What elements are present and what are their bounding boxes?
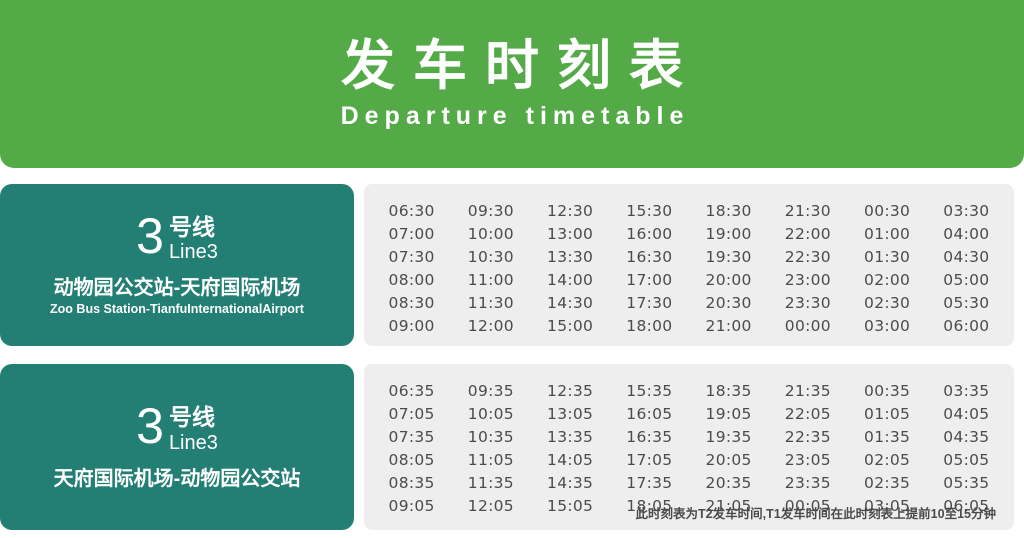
departure-time-cell: 09:05 (372, 495, 451, 518)
departure-time-cell: 14:05 (531, 449, 610, 472)
departure-time-cell: 08:05 (372, 449, 451, 472)
departure-time-cell: 20:05 (689, 449, 768, 472)
departure-time-cell: 16:30 (610, 246, 689, 269)
departure-time-cell: 23:05 (768, 449, 847, 472)
departure-time-cell: 15:30 (610, 200, 689, 223)
departure-time-cell: 13:00 (531, 223, 610, 246)
route-row: 3 号线 Line3 动物园公交站-天府国际机场 Zoo Bus Station… (0, 184, 1024, 346)
departure-time-cell: 16:35 (610, 426, 689, 449)
timetable-panel-1: 06:3509:3512:3515:3518:3521:3500:3503:35… (364, 364, 1014, 530)
departure-time-cell: 00:35 (848, 380, 927, 403)
line-badge: 3 号线 Line3 (136, 213, 218, 264)
departure-time-cell: 21:00 (689, 315, 768, 338)
line-label-cn: 号线 (169, 215, 215, 239)
header-banner: 发车时刻表 Departure timetable (0, 0, 1024, 168)
departure-time-cell: 16:05 (610, 403, 689, 426)
departure-time-cell: 20:30 (689, 292, 768, 315)
departure-time-cell: 00:30 (848, 200, 927, 223)
departure-time-cell: 06:35 (372, 380, 451, 403)
departure-time-cell: 10:30 (451, 246, 530, 269)
departure-time-cell: 03:30 (927, 200, 1006, 223)
departure-time-cell: 12:35 (531, 380, 610, 403)
departure-time-cell: 23:00 (768, 269, 847, 292)
departure-time-cell: 17:35 (610, 472, 689, 495)
departure-time-cell: 03:35 (927, 380, 1006, 403)
departure-time-cell: 17:30 (610, 292, 689, 315)
departure-time-cell: 11:30 (451, 292, 530, 315)
line-number: 3 (136, 403, 164, 450)
route-card-0[interactable]: 3 号线 Line3 动物园公交站-天府国际机场 Zoo Bus Station… (0, 184, 354, 346)
departure-time-cell: 17:05 (610, 449, 689, 472)
departure-time-cell: 08:00 (372, 269, 451, 292)
departure-time-cell: 00:00 (768, 315, 847, 338)
departure-time-cell: 19:30 (689, 246, 768, 269)
departure-time-cell: 06:00 (927, 315, 1006, 338)
departure-time-cell: 06:30 (372, 200, 451, 223)
departure-time-cell: 14:00 (531, 269, 610, 292)
timetable-grid: 06:3509:3512:3515:3518:3521:3500:3503:35… (372, 380, 1006, 518)
departure-time-cell: 12:30 (531, 200, 610, 223)
departure-time-cell: 20:00 (689, 269, 768, 292)
departure-time-cell: 13:05 (531, 403, 610, 426)
departure-time-cell: 01:00 (848, 223, 927, 246)
departure-time-cell: 09:30 (451, 200, 530, 223)
departure-time-cell: 20:35 (689, 472, 768, 495)
departure-time-cell: 09:35 (451, 380, 530, 403)
departure-time-cell: 14:35 (531, 472, 610, 495)
departure-time-cell: 19:00 (689, 223, 768, 246)
departure-time-cell: 23:30 (768, 292, 847, 315)
departure-time-cell: 11:35 (451, 472, 530, 495)
line-label-en: Line3 (169, 432, 218, 455)
departure-time-cell: 08:30 (372, 292, 451, 315)
departure-time-cell: 11:05 (451, 449, 530, 472)
route-row: 3 号线 Line3 天府国际机场-动物园公交站 06:3509:3512:35… (0, 364, 1024, 530)
page-title-cn: 发车时刻表 (323, 36, 701, 96)
timetable-grid: 06:3009:3012:3015:3018:3021:3000:3003:30… (372, 200, 1006, 338)
departure-time-cell: 12:05 (451, 495, 530, 518)
departure-time-cell: 07:30 (372, 246, 451, 269)
departure-time-cell: 23:35 (768, 472, 847, 495)
timetable-panel-0: 06:3009:3012:3015:3018:3021:3000:3003:30… (364, 184, 1014, 346)
departure-time-cell: 11:00 (451, 269, 530, 292)
route-name-cn: 动物园公交站-天府国际机场 (54, 276, 301, 300)
departure-time-cell: 10:00 (451, 223, 530, 246)
departure-time-cell: 15:05 (531, 495, 610, 518)
departure-time-cell: 13:30 (531, 246, 610, 269)
departure-time-cell: 04:05 (927, 403, 1006, 426)
departure-time-cell: 08:35 (372, 472, 451, 495)
departure-time-cell: 13:35 (531, 426, 610, 449)
departure-time-cell: 05:30 (927, 292, 1006, 315)
departure-time-cell: 02:35 (848, 472, 927, 495)
line-badge: 3 号线 Line3 (136, 403, 218, 454)
departure-time-cell: 07:05 (372, 403, 451, 426)
departure-time-cell: 02:05 (848, 449, 927, 472)
page-title-en: Departure timetable (335, 101, 690, 132)
departure-time-cell: 17:00 (610, 269, 689, 292)
departure-time-cell: 07:00 (372, 223, 451, 246)
departure-time-cell: 04:35 (927, 426, 1006, 449)
departure-time-cell: 15:00 (531, 315, 610, 338)
line-number: 3 (136, 213, 164, 260)
timetable-footnote: 此时刻表为T2发车时间,T1发车时间在此时刻表上提前10至15分钟 (636, 507, 996, 522)
departure-time-cell: 02:30 (848, 292, 927, 315)
departure-time-cell: 09:00 (372, 315, 451, 338)
departure-time-cell: 05:05 (927, 449, 1006, 472)
departure-time-cell: 14:30 (531, 292, 610, 315)
departure-time-cell: 01:35 (848, 426, 927, 449)
departure-time-cell: 03:00 (848, 315, 927, 338)
departure-time-cell: 02:00 (848, 269, 927, 292)
departure-time-cell: 22:00 (768, 223, 847, 246)
line-label-group: 号线 Line3 (169, 403, 218, 454)
departure-time-cell: 18:30 (689, 200, 768, 223)
departure-time-cell: 01:05 (848, 403, 927, 426)
departure-time-cell: 05:00 (927, 269, 1006, 292)
departure-time-cell: 21:30 (768, 200, 847, 223)
departure-time-cell: 18:35 (689, 380, 768, 403)
departure-time-cell: 19:35 (689, 426, 768, 449)
departure-time-cell: 10:35 (451, 426, 530, 449)
line-label-group: 号线 Line3 (169, 213, 218, 264)
line-label-cn: 号线 (169, 405, 215, 429)
departure-time-cell: 07:35 (372, 426, 451, 449)
route-name-cn: 天府国际机场-动物园公交站 (54, 467, 301, 491)
departure-time-cell: 12:00 (451, 315, 530, 338)
departure-time-cell: 21:35 (768, 380, 847, 403)
line-label-en: Line3 (169, 241, 218, 264)
departure-time-cell: 22:30 (768, 246, 847, 269)
route-name-en: Zoo Bus Station-TianfuInternationalAirpo… (50, 302, 304, 317)
departure-time-cell: 19:05 (689, 403, 768, 426)
departure-time-cell: 22:35 (768, 426, 847, 449)
departure-time-cell: 15:35 (610, 380, 689, 403)
departure-time-cell: 05:35 (927, 472, 1006, 495)
departure-time-cell: 01:30 (848, 246, 927, 269)
departure-time-cell: 04:00 (927, 223, 1006, 246)
departure-time-cell: 18:00 (610, 315, 689, 338)
departure-time-cell: 04:30 (927, 246, 1006, 269)
departure-time-cell: 16:00 (610, 223, 689, 246)
departure-time-cell: 10:05 (451, 403, 530, 426)
route-card-1[interactable]: 3 号线 Line3 天府国际机场-动物园公交站 (0, 364, 354, 530)
departure-time-cell: 22:05 (768, 403, 847, 426)
